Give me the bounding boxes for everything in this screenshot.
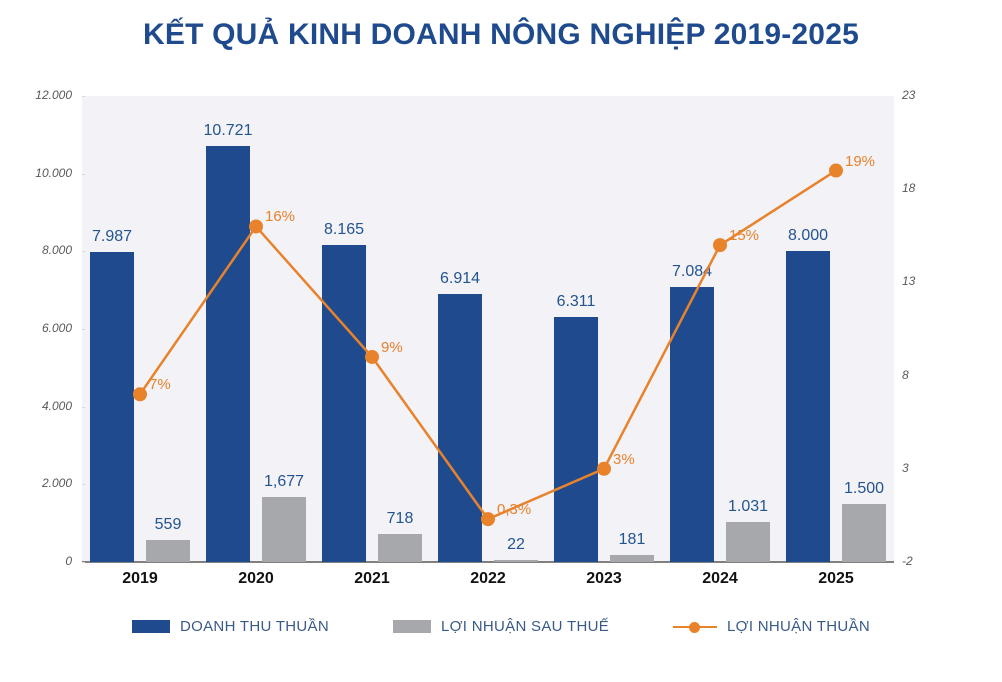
y-axis-right-tick: 13 — [902, 274, 915, 288]
x-axis-tick-2020: 2020 — [206, 570, 306, 588]
line-series-label: 0,3% — [497, 501, 531, 518]
line-series-label: 9% — [381, 339, 403, 356]
line-series-point — [481, 512, 495, 526]
y-axis-right-tick: -2 — [902, 554, 913, 568]
x-axis-tick-2023: 2023 — [554, 570, 654, 588]
line-series-point — [713, 238, 727, 252]
chart-legend: DOANH THU THUẦNLỢI NHUẬN SAU THUẾLỢI NHU… — [0, 618, 1002, 635]
x-axis-tick-2022: 2022 — [438, 570, 538, 588]
legend-item[interactable]: LỢI NHUẬN THUẦN — [673, 618, 870, 635]
line-series-label: 3% — [613, 451, 635, 468]
x-axis-tick-2021: 2021 — [322, 570, 422, 588]
x-axis-tick-2024: 2024 — [670, 570, 770, 588]
chart-container: KẾT QUẢ KINH DOANH NÔNG NGHIỆP 2019-2025… — [0, 0, 1002, 682]
line-series-layer — [82, 96, 894, 562]
x-axis-tick-2019: 2019 — [90, 570, 190, 588]
y-axis-left-tick: 4.000 — [10, 399, 72, 413]
y-axis-left-tick: 12.000 — [10, 88, 72, 102]
legend-item-label: DOANH THU THUẦN — [180, 618, 329, 635]
y-axis-left-tick: 10.000 — [10, 166, 72, 180]
x-axis-tick-2025: 2025 — [786, 570, 886, 588]
line-series-label: 7% — [149, 376, 171, 393]
y-axis-right-tick: 3 — [902, 461, 909, 475]
legend-item[interactable]: LỢI NHUẬN SAU THUẾ — [393, 618, 609, 635]
y-axis-left-tick: 6.000 — [10, 321, 72, 335]
line-series-label: 19% — [845, 153, 875, 170]
y-axis-left-tick: 2.000 — [10, 476, 72, 490]
line-series-point — [133, 387, 147, 401]
line-series-point — [829, 164, 843, 178]
y-axis-right-tick: 23 — [902, 88, 915, 102]
line-marker-icon — [673, 620, 717, 634]
line-series-path — [140, 171, 836, 520]
line-series-label: 15% — [729, 227, 759, 244]
legend-item-label: LỢI NHUẬN SAU THUẾ — [441, 618, 609, 635]
line-series-point — [249, 219, 263, 233]
line-series-point — [365, 350, 379, 364]
y-axis-right-tick: 18 — [902, 181, 915, 195]
line-series-point — [597, 462, 611, 476]
legend-item[interactable]: DOANH THU THUẦN — [132, 618, 329, 635]
y-axis-left-tick: 0 — [10, 554, 72, 568]
line-series-label: 16% — [265, 208, 295, 225]
profit-swatch-icon — [393, 620, 431, 633]
y-axis-right-tick: 8 — [902, 368, 909, 382]
y-axis-left-gridtick — [82, 562, 85, 563]
revenue-swatch-icon — [132, 620, 170, 633]
legend-item-label: LỢI NHUẬN THUẦN — [727, 618, 870, 635]
chart-title: KẾT QUẢ KINH DOANH NÔNG NGHIỆP 2019-2025 — [0, 18, 1002, 52]
